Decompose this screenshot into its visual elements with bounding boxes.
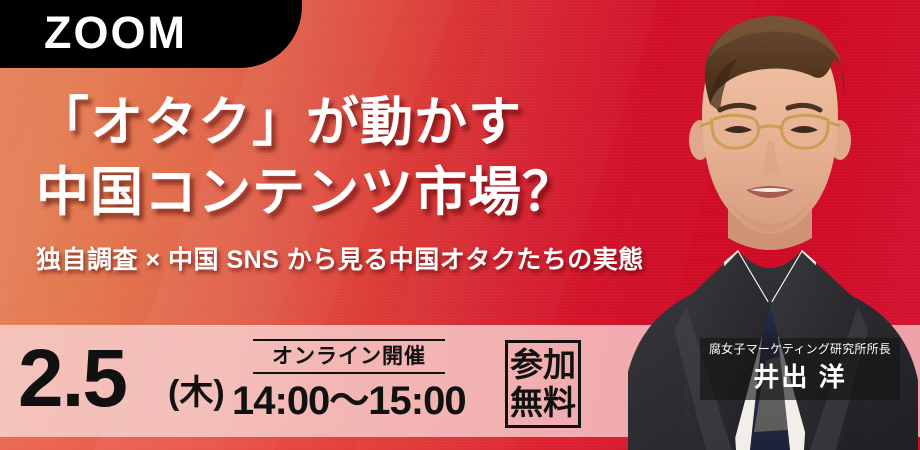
- zoom-badge-label: ZOOM: [44, 3, 187, 63]
- event-format-block: オンライン開催: [253, 339, 445, 374]
- free-badge-row-1: 参 加: [510, 346, 576, 384]
- event-time: 14:00〜15:00: [232, 375, 466, 427]
- title-line-2: 中国コンテンツ市場？: [36, 158, 644, 228]
- title-line-1: 「オタク」が動かす: [36, 88, 644, 158]
- rule-bottom: [253, 372, 445, 374]
- headline-block: 「オタク」が動かす 中国コンテンツ市場？ 独自調査 × 中国 SNS から見る中…: [36, 88, 644, 276]
- speaker-info-overlay: 腐女子マーケティング研究所所長 井出 洋: [700, 338, 900, 400]
- free-admission-badge: 参 加 無 料: [505, 340, 581, 428]
- speaker-title: 腐女子マーケティング研究所所長: [700, 338, 900, 360]
- free-badge-char-4: 料: [543, 384, 576, 422]
- event-format-label: オンライン開催: [253, 341, 445, 372]
- free-badge-char-2: 加: [543, 346, 576, 384]
- free-badge-row-2: 無 料: [510, 384, 576, 422]
- zoom-platform-badge: ZOOM: [0, 0, 302, 68]
- free-badge-char-1: 参: [510, 346, 543, 384]
- event-day-of-week: (木): [168, 371, 225, 415]
- event-date: 2.5: [18, 331, 126, 427]
- webinar-banner: ZOOM 「オタク」が動かす 中国コンテンツ市場？ 独自調査 × 中国 SNS …: [0, 0, 920, 450]
- free-badge-char-3: 無: [510, 384, 543, 422]
- speaker-name: 井出 洋: [700, 360, 900, 394]
- subtitle: 独自調査 × 中国 SNS から見る中国オタクたちの実態: [36, 240, 644, 276]
